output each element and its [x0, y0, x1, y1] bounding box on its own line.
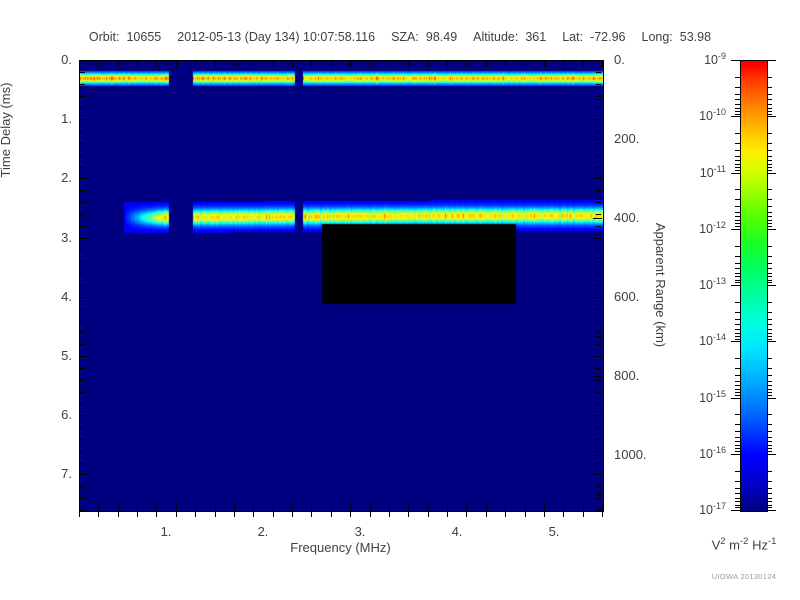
- x-minor-tick-top: [350, 61, 351, 67]
- colorbar-minor-tick-right: [767, 498, 772, 499]
- colorbar-minor-tick-right: [767, 336, 772, 337]
- colorbar-minor-tick: [735, 273, 740, 274]
- x-minor-tick-top: [466, 61, 467, 67]
- colorbar-major-tick-right: [767, 173, 776, 174]
- y-major-tick: [80, 178, 88, 179]
- x-minor-tick-out: [602, 511, 603, 517]
- colorbar-major-tick: [731, 285, 740, 286]
- yr-major-tick: [593, 139, 602, 140]
- x-minor-tick-top: [195, 61, 196, 67]
- x-minor-tick-out: [176, 511, 177, 517]
- colorbar-minor-tick-right: [767, 256, 772, 257]
- colorbar-minor-tick-right: [767, 437, 772, 438]
- unit-v: V: [712, 537, 721, 552]
- colorbar-units: V2 m-2 Hz-1: [688, 536, 800, 552]
- colorbar-minor-tick-right: [767, 481, 772, 482]
- colorbar-minor-tick: [735, 206, 740, 207]
- colorbar-minor-tick: [735, 414, 740, 415]
- y-major-tick-inner: [593, 238, 601, 239]
- y-minor-tick-inner: [596, 498, 601, 499]
- colorbar-minor-tick-right: [767, 87, 772, 88]
- colorbar-minor-tick: [735, 256, 740, 257]
- colorbar-minor-tick-right: [767, 319, 772, 320]
- colorbar-major-tick-right: [767, 398, 776, 399]
- y-minor-tick: [80, 214, 85, 215]
- x-minor-tick-out: [156, 511, 157, 517]
- colorbar-minor-tick: [735, 77, 740, 78]
- colorbar-minor-tick-right: [767, 358, 772, 359]
- y-minor-tick-inner: [596, 427, 601, 428]
- x-minor-tick: [428, 504, 429, 510]
- x-minor-tick: [331, 504, 332, 510]
- colorbar-minor-tick: [735, 282, 740, 283]
- colorbar-minor-tick-right: [767, 333, 772, 334]
- altitude-label: Altitude:: [473, 30, 518, 44]
- y-major-tick: [80, 474, 88, 475]
- colorbar-minor-tick-right: [767, 220, 772, 221]
- y-axis-tick-label: 5.: [26, 348, 72, 363]
- colorbar-minor-tick: [735, 424, 740, 425]
- lat-label: Lat:: [562, 30, 583, 44]
- x-minor-tick-top: [525, 61, 526, 67]
- colorbar-minor-tick: [735, 437, 740, 438]
- colorbar-minor-tick-right: [767, 389, 772, 390]
- y-minor-tick-inner: [596, 285, 601, 286]
- y-minor-tick: [80, 510, 85, 511]
- y-minor-tick: [80, 285, 85, 286]
- header-info: Orbit:106552012-05-13 (Day 134) 10:07:58…: [0, 30, 800, 44]
- y-major-tick: [80, 60, 88, 61]
- colorbar-minor-tick-right: [767, 448, 772, 449]
- colorbar-minor-tick: [735, 226, 740, 227]
- yr-minor-tick: [596, 494, 602, 495]
- colorbar-minor-tick-right: [767, 273, 772, 274]
- colorbar-minor-tick-right: [767, 150, 772, 151]
- colorbar-minor-tick-right: [767, 212, 772, 213]
- x-minor-tick: [505, 504, 506, 510]
- colorbar-tick-label: 10-9: [670, 51, 726, 67]
- colorbar-major-tick: [731, 60, 740, 61]
- x-minor-tick: [118, 504, 119, 510]
- x-minor-tick-out: [273, 511, 274, 517]
- ionogram-page: Orbit:106552012-05-13 (Day 134) 10:07:58…: [0, 0, 800, 600]
- colorbar-minor-tick-right: [767, 312, 772, 313]
- x-minor-tick-out: [137, 511, 138, 517]
- x-minor-tick-top: [311, 61, 312, 67]
- colorbar-minor-tick: [735, 223, 740, 224]
- colorbar-tick-label: 10-10: [670, 107, 726, 123]
- colorbar-minor-tick: [735, 99, 740, 100]
- y-axis-tick-label: 6.: [26, 407, 72, 422]
- colorbar-minor-tick-right: [767, 156, 772, 157]
- colorbar-minor-tick: [735, 505, 740, 506]
- colorbar-minor-tick: [735, 170, 740, 171]
- x-minor-tick: [563, 504, 564, 510]
- x-minor-tick-top: [79, 61, 80, 67]
- colorbar-minor-tick-right: [767, 189, 772, 190]
- colorbar-minor-tick-right: [767, 493, 772, 494]
- x-minor-tick: [98, 504, 99, 510]
- y-axis-right-tick-label: 400.: [614, 210, 674, 225]
- x-minor-tick-top: [137, 61, 138, 67]
- colorbar-minor-tick: [735, 319, 740, 320]
- colorbar-minor-tick: [735, 133, 740, 134]
- colorbar-minor-tick: [735, 302, 740, 303]
- colorbar-minor-tick: [735, 507, 740, 508]
- colorbar-minor-tick-right: [767, 268, 772, 269]
- colorbar-minor-tick-right: [767, 329, 772, 330]
- x-minor-tick-top: [563, 61, 564, 67]
- colorbar-minor-tick-right: [767, 488, 772, 489]
- y-axis-right-tick-label: 1000.: [614, 447, 674, 462]
- x-minor-tick-out: [466, 511, 467, 517]
- spectrogram-canvas: [80, 61, 603, 511]
- x-minor-tick-out: [350, 511, 351, 517]
- y-minor-tick-inner: [596, 202, 601, 203]
- colorbar-minor-tick-right: [767, 445, 772, 446]
- colorbar-minor-tick: [735, 471, 740, 472]
- y-minor-tick: [80, 368, 85, 369]
- y-minor-tick: [80, 107, 85, 108]
- y-major-tick: [80, 297, 88, 298]
- y-minor-tick: [80, 463, 85, 464]
- y-minor-tick: [80, 72, 85, 73]
- colorbar-minor-tick-right: [767, 392, 772, 393]
- y-minor-tick-inner: [596, 84, 601, 85]
- yr-minor-tick: [596, 336, 602, 337]
- x-minor-tick-top: [253, 61, 254, 67]
- colorbar-minor-tick-right: [767, 441, 772, 442]
- y-major-tick: [80, 356, 88, 357]
- x-minor-tick-out: [234, 511, 235, 517]
- colorbar-minor-tick: [735, 392, 740, 393]
- colorbar-minor-tick-right: [767, 414, 772, 415]
- unit-hz-exp: -1: [768, 536, 776, 547]
- yr-minor-tick: [596, 415, 602, 416]
- y-minor-tick-inner: [596, 107, 601, 108]
- y-minor-tick: [80, 439, 85, 440]
- colorbar-minor-tick-right: [767, 226, 772, 227]
- x-minor-tick: [389, 504, 390, 510]
- x-minor-tick-out: [428, 511, 429, 517]
- colorbar-major-tick: [731, 229, 740, 230]
- x-minor-tick-out: [79, 511, 80, 517]
- x-minor-tick: [311, 504, 312, 510]
- x-minor-tick-out: [486, 511, 487, 517]
- colorbar-major-tick-right: [767, 116, 776, 117]
- y-axis-right-label: Apparent Range (km): [653, 200, 668, 370]
- y-minor-tick: [80, 309, 85, 310]
- orbit-label: Orbit:: [89, 30, 120, 44]
- y-minor-tick-inner: [596, 155, 601, 156]
- y-minor-tick-inner: [596, 131, 601, 132]
- colorbar-major-tick-right: [767, 285, 776, 286]
- x-minor-tick: [292, 504, 293, 510]
- colorbar-minor-tick-right: [767, 246, 772, 247]
- y-minor-tick: [80, 392, 85, 393]
- colorbar-tick-label: 10-17: [670, 501, 726, 517]
- x-minor-tick-out: [505, 511, 506, 517]
- colorbar-minor-tick: [735, 199, 740, 200]
- x-minor-tick-top: [215, 61, 216, 67]
- colorbar-minor-tick-right: [767, 395, 772, 396]
- colorbar-major-tick: [731, 454, 740, 455]
- colorbar-minor-tick: [735, 189, 740, 190]
- yr-major-tick: [593, 297, 602, 298]
- y-minor-tick-inner: [596, 96, 601, 97]
- y-axis-tick-label: 0.: [26, 52, 72, 67]
- x-minor-tick: [544, 504, 545, 510]
- colorbar-tick-label: 10-13: [670, 276, 726, 292]
- y-minor-tick: [80, 380, 85, 381]
- colorbar-tick-label: 10-15: [670, 389, 726, 405]
- x-minor-tick: [525, 504, 526, 510]
- x-minor-tick: [176, 504, 177, 510]
- y-minor-tick-inner: [596, 226, 601, 227]
- y-minor-tick-inner: [596, 344, 601, 345]
- colorbar-minor-tick: [735, 498, 740, 499]
- colorbar-minor-tick: [735, 336, 740, 337]
- x-minor-tick-top: [331, 61, 332, 67]
- colorbar-minor-tick-right: [767, 280, 772, 281]
- colorbar-minor-tick: [735, 375, 740, 376]
- y-minor-tick-inner: [596, 143, 601, 144]
- x-minor-tick-out: [389, 511, 390, 517]
- x-minor-tick-top: [408, 61, 409, 67]
- x-minor-tick: [370, 504, 371, 510]
- x-axis-tick-label: 4.: [437, 524, 477, 539]
- colorbar-minor-tick: [735, 488, 740, 489]
- colorbar-major-tick-right: [767, 229, 776, 230]
- x-minor-tick-out: [311, 511, 312, 517]
- y-minor-tick: [80, 226, 85, 227]
- y-minor-tick: [80, 451, 85, 452]
- colorbar-minor-tick: [735, 87, 740, 88]
- colorbar-minor-tick: [735, 268, 740, 269]
- colorbar-minor-tick: [735, 94, 740, 95]
- colorbar-minor-tick: [735, 441, 740, 442]
- x-minor-tick: [602, 504, 603, 510]
- colorbar-minor-tick: [735, 481, 740, 482]
- x-minor-tick: [215, 504, 216, 510]
- x-minor-tick: [137, 504, 138, 510]
- colorbar-minor-tick: [735, 167, 740, 168]
- colorbar-minor-tick-right: [767, 282, 772, 283]
- colorbar-tick-label: 10-14: [670, 332, 726, 348]
- yr-major-tick: [593, 60, 602, 61]
- colorbar-minor-tick-right: [767, 164, 772, 165]
- yr-major-tick: [593, 218, 602, 219]
- colorbar-minor-tick-right: [767, 143, 772, 144]
- colorbar-tick-label: 10-16: [670, 445, 726, 461]
- y-minor-tick: [80, 498, 85, 499]
- y-minor-tick: [80, 167, 85, 168]
- colorbar-major-tick: [731, 341, 740, 342]
- y-minor-tick-inner: [596, 486, 601, 487]
- colorbar-minor-tick-right: [767, 451, 772, 452]
- yr-minor-tick: [596, 99, 602, 100]
- colorbar-minor-tick: [735, 280, 740, 281]
- y-minor-tick: [80, 131, 85, 132]
- y-minor-tick-inner: [596, 332, 601, 333]
- y-minor-tick-inner: [596, 214, 601, 215]
- y-minor-tick: [80, 403, 85, 404]
- colorbar-minor-tick: [735, 108, 740, 109]
- x-minor-tick-top: [234, 61, 235, 67]
- x-minor-tick-out: [195, 511, 196, 517]
- y-minor-tick: [80, 249, 85, 250]
- y-minor-tick: [80, 143, 85, 144]
- long-value: 53.98: [680, 30, 711, 44]
- x-axis-tick-label: 5.: [534, 524, 574, 539]
- y-minor-tick-inner: [596, 321, 601, 322]
- colorbar-minor-tick: [735, 389, 740, 390]
- x-minor-tick-out: [331, 511, 332, 517]
- colorbar-minor-tick-right: [767, 114, 772, 115]
- y-minor-tick-inner: [596, 273, 601, 274]
- y-minor-tick: [80, 344, 85, 345]
- x-minor-tick-top: [370, 61, 371, 67]
- y-minor-tick: [80, 155, 85, 156]
- y-axis-right-tick-label: 0.: [614, 52, 674, 67]
- colorbar-minor-tick-right: [767, 424, 772, 425]
- y-axis-left-label: Time Delay (ms): [0, 50, 13, 210]
- y-major-tick-inner: [593, 474, 601, 475]
- y-minor-tick: [80, 273, 85, 274]
- colorbar-tick-label: 10-11: [670, 164, 726, 180]
- colorbar-minor-tick: [735, 143, 740, 144]
- colorbar-minor-tick-right: [767, 108, 772, 109]
- x-minor-tick-top: [486, 61, 487, 67]
- colorbar-minor-tick: [735, 276, 740, 277]
- x-minor-tick: [273, 504, 274, 510]
- ionogram-plot-area: [79, 60, 604, 512]
- colorbar-minor-tick: [735, 501, 740, 502]
- y-minor-tick: [80, 96, 85, 97]
- colorbar-minor-tick-right: [767, 170, 772, 171]
- colorbar-minor-tick: [735, 220, 740, 221]
- colorbar-minor-tick-right: [767, 99, 772, 100]
- x-minor-tick-top: [389, 61, 390, 67]
- y-axis-tick-label: 1.: [26, 111, 72, 126]
- x-minor-tick-out: [525, 511, 526, 517]
- y-major-tick: [80, 238, 88, 239]
- colorbar-minor-tick: [735, 381, 740, 382]
- colorbar-major-tick-right: [767, 341, 776, 342]
- y-minor-tick-inner: [596, 368, 601, 369]
- colorbar-minor-tick-right: [767, 324, 772, 325]
- long-label: Long:: [642, 30, 673, 44]
- y-minor-tick-inner: [596, 403, 601, 404]
- x-minor-tick: [156, 504, 157, 510]
- colorbar-minor-tick: [735, 150, 740, 151]
- x-axis-label: Frequency (MHz): [79, 540, 602, 555]
- x-minor-tick: [79, 504, 80, 510]
- colorbar-minor-tick: [735, 493, 740, 494]
- x-minor-tick: [583, 504, 584, 510]
- unit-hz: Hz: [748, 537, 768, 552]
- y-minor-tick: [80, 190, 85, 191]
- y-axis-right-tick-label: 200.: [614, 131, 674, 146]
- unit-m: m: [726, 537, 740, 552]
- yr-major-tick: [593, 376, 602, 377]
- x-minor-tick-top: [447, 61, 448, 67]
- colorbar-minor-tick: [735, 104, 740, 105]
- x-minor-tick-top: [292, 61, 293, 67]
- colorbar-minor-tick: [735, 111, 740, 112]
- y-axis-tick-label: 7.: [26, 466, 72, 481]
- x-axis-tick-label: 2.: [243, 524, 283, 539]
- colorbar-minor-tick: [735, 324, 740, 325]
- colorbar-minor-tick-right: [767, 167, 772, 168]
- y-minor-tick-inner: [596, 510, 601, 511]
- colorbar-minor-tick: [735, 451, 740, 452]
- x-minor-tick-top: [428, 61, 429, 67]
- x-minor-tick-out: [563, 511, 564, 517]
- x-minor-tick-out: [118, 511, 119, 517]
- colorbar-major-tick: [731, 173, 740, 174]
- colorbar-minor-tick: [735, 445, 740, 446]
- y-minor-tick: [80, 427, 85, 428]
- y-major-tick: [80, 415, 88, 416]
- x-minor-tick-out: [292, 511, 293, 517]
- x-minor-tick: [447, 504, 448, 510]
- x-minor-tick-out: [583, 511, 584, 517]
- x-minor-tick-out: [408, 511, 409, 517]
- colorbar-minor-tick-right: [767, 339, 772, 340]
- y-minor-tick: [80, 202, 85, 203]
- y-minor-tick-inner: [596, 167, 601, 168]
- colorbar-minor-tick-right: [767, 199, 772, 200]
- colorbar-minor-tick-right: [767, 471, 772, 472]
- y-axis-tick-label: 2.: [26, 170, 72, 185]
- x-axis-tick-label: 1.: [146, 524, 186, 539]
- colorbar-minor-tick-right: [767, 160, 772, 161]
- colorbar-minor-tick: [735, 385, 740, 386]
- colorbar-minor-tick-right: [767, 133, 772, 134]
- colorbar-minor-tick: [735, 156, 740, 157]
- y-minor-tick-inner: [596, 190, 601, 191]
- x-minor-tick-top: [98, 61, 99, 67]
- x-minor-tick: [253, 504, 254, 510]
- sza-value: 98.49: [426, 30, 457, 44]
- y-minor-tick-inner: [596, 439, 601, 440]
- y-minor-tick-inner: [596, 249, 601, 250]
- x-minor-tick-top: [118, 61, 119, 67]
- colorbar-minor-tick: [735, 212, 740, 213]
- y-minor-tick-inner: [596, 72, 601, 73]
- colorbar-minor-tick-right: [767, 368, 772, 369]
- colorbar-major-tick: [731, 398, 740, 399]
- y-minor-tick-inner: [596, 261, 601, 262]
- y-minor-tick: [80, 84, 85, 85]
- x-minor-tick-top: [583, 61, 584, 67]
- colorbar-major-tick-right: [767, 60, 776, 61]
- colorbar-minor-tick-right: [767, 77, 772, 78]
- y-axis-tick-label: 4.: [26, 289, 72, 304]
- y-major-tick: [80, 119, 88, 120]
- x-minor-tick: [486, 504, 487, 510]
- x-minor-tick-out: [253, 511, 254, 517]
- x-minor-tick-top: [176, 61, 177, 67]
- y-minor-tick: [80, 486, 85, 487]
- y-minor-tick-inner: [596, 451, 601, 452]
- colorbar-minor-tick-right: [767, 263, 772, 264]
- orbit-value: 10655: [126, 30, 161, 44]
- colorbar-minor-tick: [735, 431, 740, 432]
- sza-label: SZA:: [391, 30, 419, 44]
- x-axis-tick-label: 3.: [340, 524, 380, 539]
